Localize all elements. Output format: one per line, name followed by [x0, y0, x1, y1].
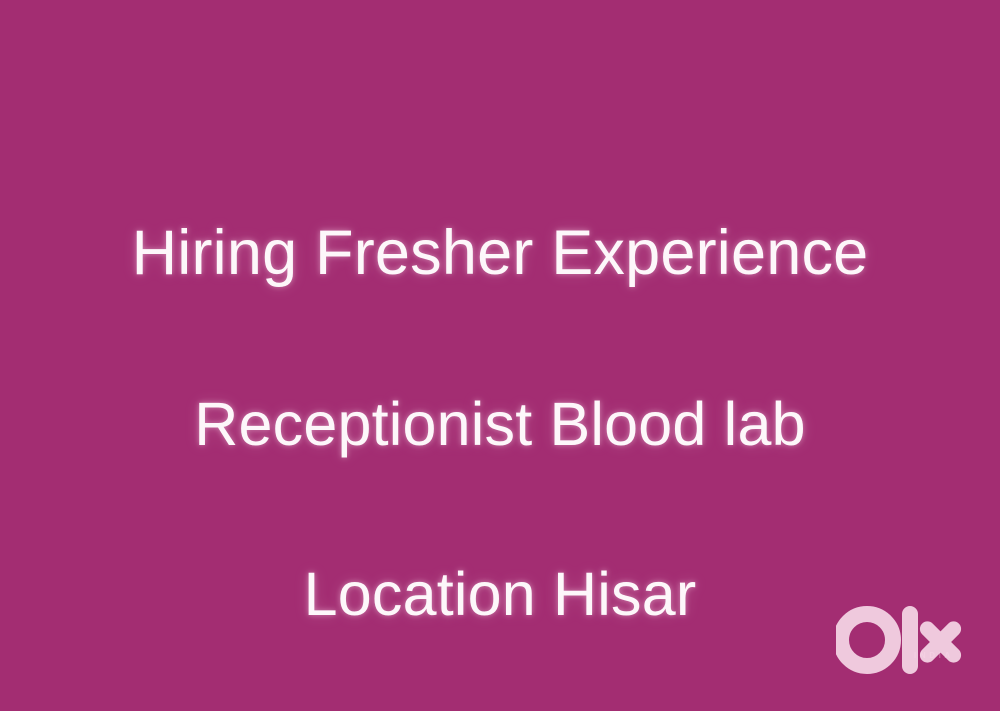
olx-logo-icon — [836, 604, 968, 680]
olx-india-watermark: INDIA — [836, 604, 968, 680]
olx-letter-l — [902, 606, 918, 674]
olx-letter-o — [841, 614, 893, 666]
ad-headline-line-2: Receptionist Blood lab — [0, 392, 1000, 456]
ad-headline-line-1: Hiring Fresher Experience — [0, 220, 1000, 286]
watermark-india-label: INDIA — [914, 651, 954, 660]
job-ad-poster: Hiring Fresher Experience Receptionist B… — [0, 0, 1000, 711]
